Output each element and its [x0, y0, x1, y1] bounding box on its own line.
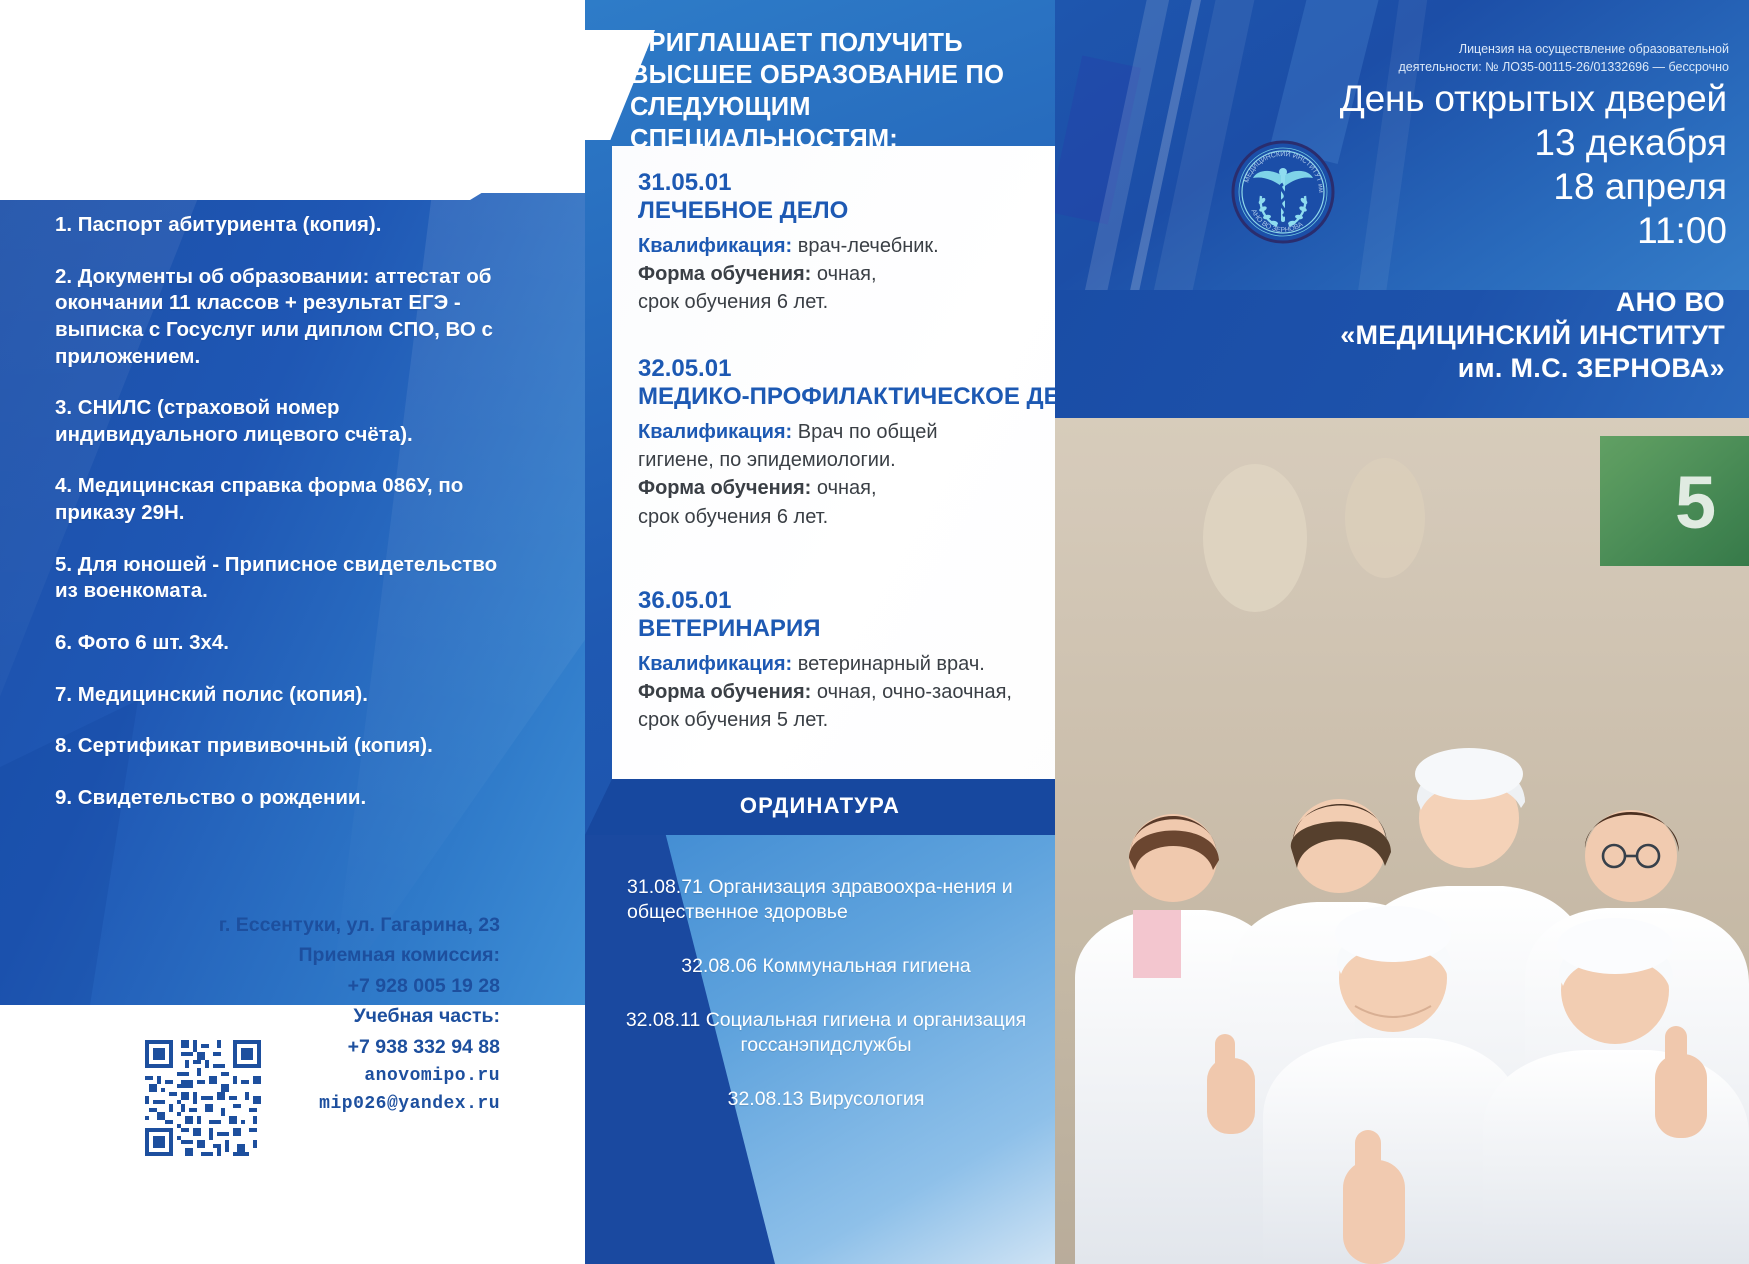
list-item: 4. Медицинская справка форма 086У, по пр…: [55, 473, 525, 526]
institute-name-line-3: им. М.С. ЗЕРНОВА»: [1065, 352, 1725, 385]
list-item: 5. Для юношей - Приписное свидетельство …: [55, 552, 525, 605]
qualification-label: Квалификация:: [638, 421, 792, 443]
documents-list: 1. Паспорт абитуриента (копия). 2. Докум…: [55, 212, 525, 812]
institute-name-line-2: «МЕДИЦИНСКИЙ ИНСТИТУТ: [1065, 319, 1725, 352]
specialty-form: Форма обучения: очная,: [638, 260, 1055, 288]
ordinatura-list: 31.08.71 Организация здравоохра-нения и …: [585, 875, 1055, 1141]
invitation-heading: ПРИГЛАШАЕТ ПОЛУЧИТЬ ВЫСШЕЕ ОБРАЗОВАНИЕ П…: [585, 28, 1055, 156]
list-item: 32.08.06 Коммунальная гигиена: [621, 954, 1031, 979]
specialty-code: 31.05.01: [638, 168, 1055, 197]
institute-emblem-icon: МЕДИЦИНСКИЙ ИНСТИТУТ им. М.С. АНО ВО ЗЕР…: [1231, 140, 1335, 244]
institute-name: АНО ВО «МЕДИЦИНСКИЙ ИНСТИТУТ им. М.С. ЗЕ…: [1065, 286, 1725, 386]
ordinatura-body: 31.08.71 Организация здравоохра-нения и …: [585, 835, 1055, 1264]
list-item: 8. Сертификат прививочный (копия).: [55, 733, 525, 760]
open-day-title: День открытых дверей: [1257, 78, 1727, 120]
qr-code-icon[interactable]: [145, 1040, 261, 1156]
specialty-name: ЛЕЧЕБНОЕ ДЕЛО: [638, 197, 1055, 225]
license-line-1: Лицензия на осуществление образовательно…: [1309, 40, 1729, 58]
form-value: очная,: [817, 477, 877, 499]
list-item: 1. Паспорт абитуриента (копия).: [55, 212, 525, 239]
right-header-panel: Лицензия на осуществление образовательно…: [1055, 0, 1749, 460]
license-text: Лицензия на осуществление образовательно…: [1309, 40, 1729, 76]
qualification-value: врач-лечебник.: [798, 235, 939, 257]
qualification-value: Врач по общей: [798, 421, 938, 443]
specialty-name: ВЕТЕРИНАРИЯ: [638, 615, 1055, 643]
institute-name-line-1: АНО ВО: [1065, 286, 1725, 319]
license-line-2: деятельности: № ЛО35-00115-26/01332696 —…: [1309, 58, 1729, 76]
specialty-code: 36.05.01: [638, 586, 1055, 615]
specialty-name: МЕДИКО-ПРОФИЛАКТИЧЕСКОЕ ДЕЛО: [638, 383, 1055, 411]
list-item: 31.08.71 Организация здравоохра-нения и …: [621, 875, 1031, 925]
specialty-item: 31.05.01 ЛЕЧЕБНОЕ ДЕЛО Квалификация: вра…: [638, 168, 1055, 317]
list-item: 3. СНИЛС (страховой номер индивидуальног…: [55, 395, 525, 448]
ordinatura-title: ОРДИНАТУРА: [585, 793, 1055, 819]
contact-block: г. Ессентуки, ул. Гагарина, 23 Приемная …: [0, 1005, 585, 1264]
list-item: 2. Документы об образовании: аттестат об…: [55, 264, 525, 371]
list-item: 7. Медицинский полис (копия).: [55, 682, 525, 709]
specialty-code: 32.05.01: [638, 354, 1055, 383]
poster-root: СПИСОК ДОКУМЕНТОВ ДЛЯ ПОСТУПЛЕНИЯ В ИНСТ…: [0, 0, 1749, 1264]
specialty-form: Форма обучения: очная, очно-заочная,: [638, 678, 1055, 706]
admissions-label: Приемная комиссия:: [110, 940, 500, 970]
specialty-duration: срок обучения 6 лет.: [638, 503, 1055, 531]
left-column: СПИСОК ДОКУМЕНТОВ ДЛЯ ПОСТУПЛЕНИЯ В ИНСТ…: [0, 0, 585, 1264]
qualification-label: Квалификация:: [638, 653, 792, 675]
specialty-item: 36.05.01 ВЕТЕРИНАРИЯ Квалификация: ветер…: [638, 586, 1055, 735]
specialty-qualification: Квалификация: ветеринарный врач.: [638, 650, 1055, 678]
form-label: Форма обучения:: [638, 263, 811, 285]
specialty-qualification: Квалификация: врач-лечебник.: [638, 232, 1055, 260]
middle-column: ПРИГЛАШАЕТ ПОЛУЧИТЬ ВЫСШЕЕ ОБРАЗОВАНИЕ П…: [585, 0, 1055, 1264]
qualification-label: Квалификация:: [638, 235, 792, 257]
study-office-label: Учебная часть:: [110, 1001, 500, 1031]
students-group-photo: 5: [1055, 418, 1749, 1264]
form-value: очная, очно-заочная,: [817, 681, 1012, 703]
qualification-value-cont: гигиене, по эпидемиологии.: [638, 446, 1055, 474]
left-header-wedge: [0, 0, 585, 200]
list-item: 6. Фото 6 шт. 3х4.: [55, 630, 525, 657]
specialty-duration: срок обучения 5 лет.: [638, 706, 1055, 734]
specialty-qualification: Квалификация: Врач по общей: [638, 418, 1055, 446]
right-column: Лицензия на осуществление образовательно…: [1055, 0, 1749, 1264]
specialty-item: 32.05.01 МЕДИКО-ПРОФИЛАКТИЧЕСКОЕ ДЕЛО Кв…: [638, 354, 1055, 531]
list-item: 9. Свидетельство о рождении.: [55, 785, 525, 812]
form-label: Форма обучения:: [638, 681, 811, 703]
specialties-card: 31.05.01 ЛЕЧЕБНОЕ ДЕЛО Квалификация: вра…: [612, 146, 1055, 779]
admissions-phone[interactable]: +7 928 005 19 28: [110, 971, 500, 1001]
list-item: 32.08.13 Вирусология: [621, 1087, 1031, 1112]
qualification-value: ветеринарный врач.: [798, 653, 985, 675]
address-line: г. Ессентуки, ул. Гагарина, 23: [110, 910, 500, 940]
specialty-form: Форма обучения: очная,: [638, 474, 1055, 502]
form-label: Форма обучения:: [638, 477, 811, 499]
specialty-duration: срок обучения 6 лет.: [638, 288, 1055, 316]
list-item: 32.08.11 Социальная гигиена и организаци…: [621, 1008, 1031, 1058]
form-value: очная,: [817, 263, 877, 285]
